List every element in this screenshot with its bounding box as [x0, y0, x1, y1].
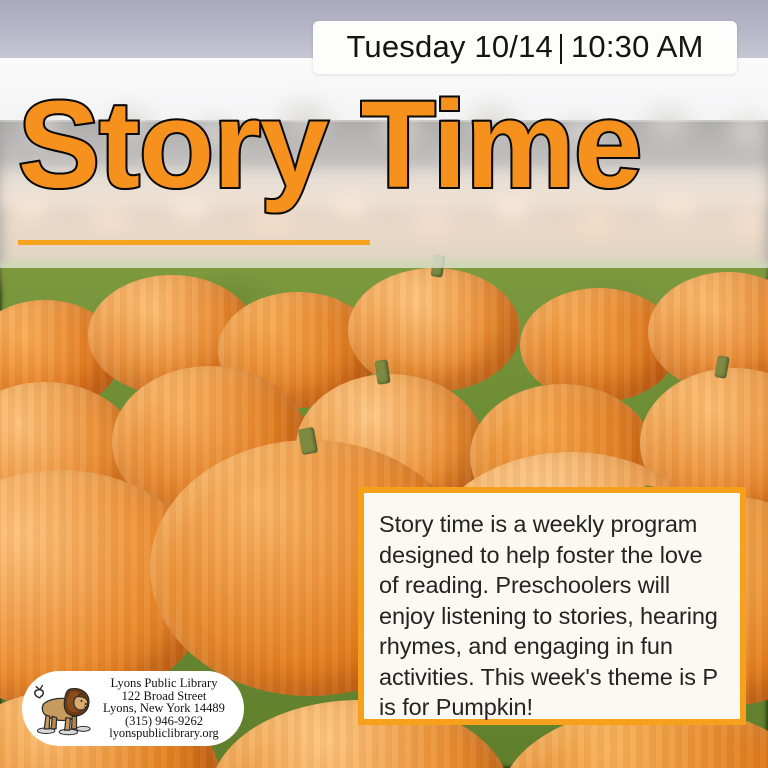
description-text: Story time is a weekly program designed … — [379, 509, 726, 723]
event-poster: Tuesday 10/1410:30 AM Story Time Story t… — [0, 0, 768, 768]
description-card-inner: Story time is a weekly program designed … — [364, 493, 740, 719]
library-city-state-zip: Lyons, New York 14489 — [92, 702, 236, 715]
date-time-banner: Tuesday 10/1410:30 AM — [313, 21, 737, 74]
date-time-text: Tuesday 10/1410:30 AM — [346, 31, 703, 64]
library-contact-block: Lyons Public Library 122 Broad Street Ly… — [92, 677, 244, 740]
event-date: Tuesday 10/14 — [346, 29, 553, 64]
lion-logo-icon — [30, 679, 92, 739]
title-underline-rule — [18, 240, 370, 245]
library-logo-badge: Lyons Public Library 122 Broad Street Ly… — [22, 671, 244, 746]
event-time: 10:30 AM — [571, 29, 704, 64]
banner-divider — [560, 34, 562, 64]
pumpkin — [348, 268, 520, 392]
library-name: Lyons Public Library — [92, 677, 236, 690]
description-card: Story time is a weekly program designed … — [358, 487, 746, 725]
library-website: lyonspubliclibrary.org — [92, 727, 236, 740]
page-title: Story Time — [18, 84, 758, 207]
